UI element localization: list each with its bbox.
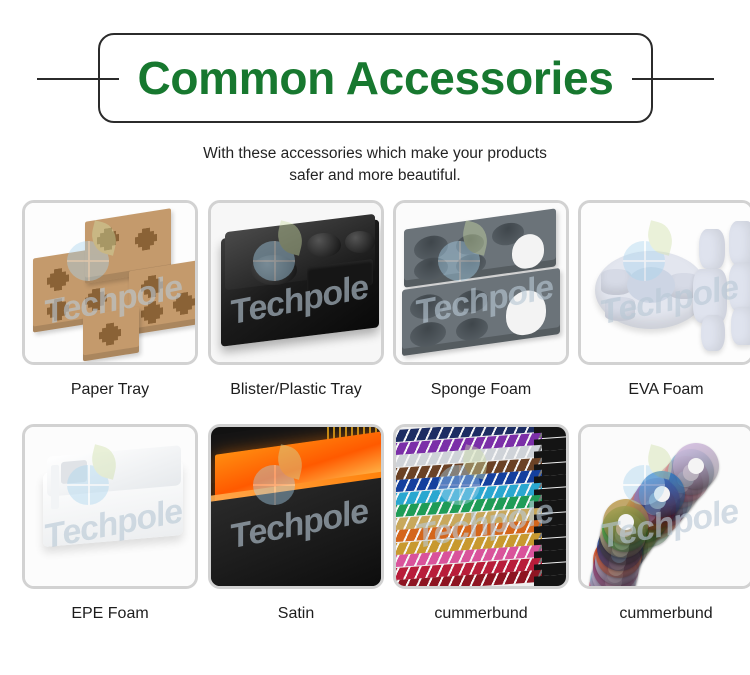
- accessory-caption: Sponge Foam: [393, 381, 569, 399]
- ribbon-spools-photo: [581, 427, 750, 586]
- accessory-caption: cummerbund: [578, 605, 750, 623]
- accessory-caption: Blister/Plastic Tray: [208, 381, 384, 399]
- accessory-caption: Satin: [208, 605, 384, 623]
- accessory-caption: cummerbund: [393, 605, 569, 623]
- accessory-card[interactable]: Techpole: [22, 200, 198, 365]
- accessory-card[interactable]: Techpole: [22, 424, 198, 589]
- accessory-item-sponge-foam[interactable]: Techpole Sponge Foam: [393, 200, 569, 399]
- accessory-grid: Techpole Paper Tray: [0, 200, 750, 648]
- subtitle-line-2: safer and more beautiful.: [0, 165, 750, 187]
- accessory-card[interactable]: Techpole: [208, 424, 384, 589]
- accessory-caption: EPE Foam: [22, 605, 198, 623]
- accessory-item-eva-foam[interactable]: Techpole EVA Foam: [578, 200, 750, 399]
- accessory-card[interactable]: Techpole: [578, 200, 750, 365]
- satin-box-photo: [211, 427, 381, 586]
- eva-foam-photo: [581, 203, 750, 362]
- accessory-item-paper-tray[interactable]: Techpole Paper Tray: [22, 200, 198, 399]
- accessory-row: Techpole EPE Foam: [0, 424, 750, 648]
- accessory-item-epe-foam[interactable]: Techpole EPE Foam: [22, 424, 198, 623]
- accessory-card[interactable]: Techpole: [578, 424, 750, 589]
- accessory-card[interactable]: Techpole: [393, 200, 569, 365]
- accessory-caption: Paper Tray: [22, 381, 198, 399]
- accessory-row: Techpole Paper Tray: [0, 200, 750, 424]
- sponge-foam-photo: [396, 203, 566, 362]
- page-header: Common Accessories: [0, 0, 750, 140]
- accessory-item-blister-plastic-tray[interactable]: Techpole Blister/Plastic Tray: [208, 200, 384, 399]
- accessory-card[interactable]: Techpole: [208, 200, 384, 365]
- accessory-item-satin[interactable]: Techpole Satin: [208, 424, 384, 623]
- epe-foam-photo: [25, 427, 195, 586]
- accessory-item-cummerbund-cords[interactable]: Techpole cummerbund: [393, 424, 569, 623]
- blister-tray-photo: [211, 203, 381, 362]
- cord-bundle-photo: [396, 427, 566, 586]
- paper-tray-photo: [25, 203, 195, 362]
- page-title: Common Accessories: [98, 33, 653, 123]
- accessory-card[interactable]: Techpole: [393, 424, 569, 589]
- accessory-item-cummerbund-ribbons[interactable]: Techpole cummerbund: [578, 424, 750, 623]
- accessory-caption: EVA Foam: [578, 381, 750, 399]
- page-subtitle: With these accessories which make your p…: [0, 143, 750, 187]
- subtitle-line-1: With these accessories which make your p…: [0, 143, 750, 165]
- accessories-page: Common Accessories With these accessorie…: [0, 0, 750, 675]
